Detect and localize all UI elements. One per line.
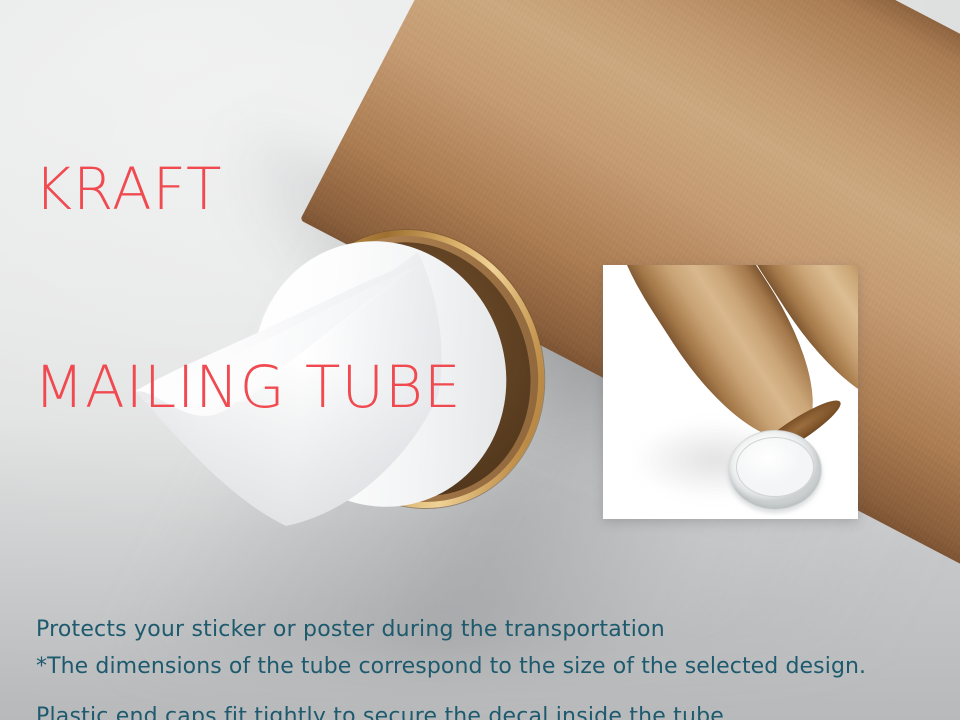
inset-plastic-end-cap-fitted xyxy=(856,357,858,443)
inset-product-photo xyxy=(603,265,858,519)
benefit-line-1: Protects your sticker or poster during t… xyxy=(36,615,724,644)
benefit-line-2: Plastic end caps fit tightly to secure t… xyxy=(36,702,724,720)
title-line-2: MAILING TUBE xyxy=(34,354,462,420)
poster-canvas: KRAFT MAILING TUBE Protects your sticker… xyxy=(0,0,960,720)
footnote-text: *The dimensions of the tube correspond t… xyxy=(36,653,866,681)
inset-loose-cap-lip xyxy=(736,437,814,497)
inset-loose-plastic-cap xyxy=(728,430,822,510)
inset-white-background xyxy=(603,265,858,519)
title-line-1: KRAFT xyxy=(34,156,462,222)
benefits-text: Protects your sticker or poster during t… xyxy=(36,557,724,720)
page-title: KRAFT MAILING TUBE xyxy=(34,24,462,552)
